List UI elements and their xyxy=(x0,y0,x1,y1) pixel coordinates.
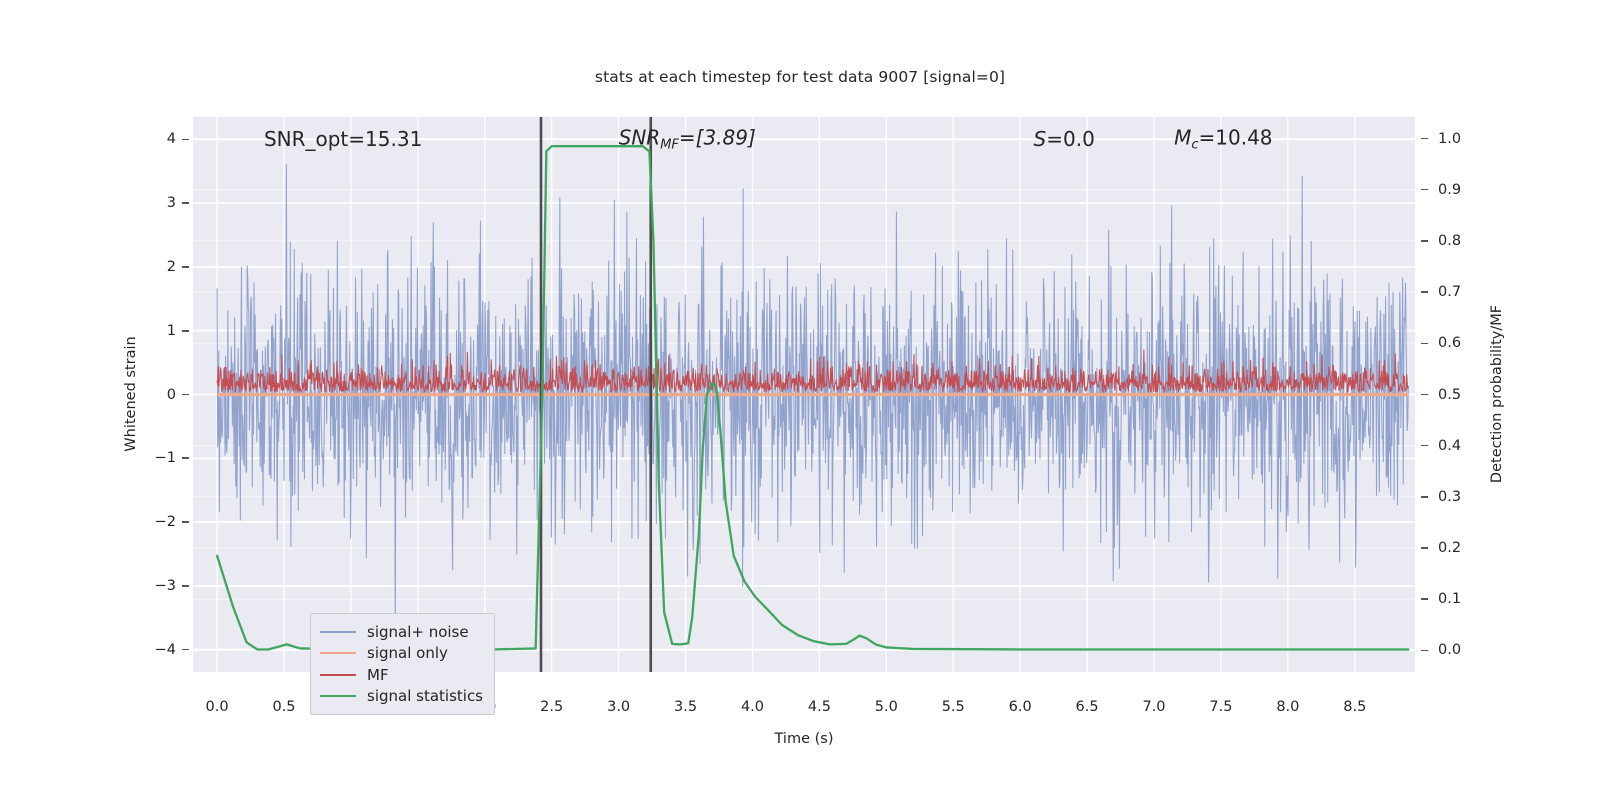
tick-mark xyxy=(1421,394,1428,396)
x-tick-10: 5.0 xyxy=(875,699,898,715)
tick-mark xyxy=(1421,547,1428,549)
tick-mark xyxy=(182,394,189,396)
y-tick-left-4: 0 xyxy=(150,387,176,403)
tick-mark xyxy=(1421,650,1428,652)
legend-label: MF xyxy=(367,666,389,684)
legend-swatch-icon xyxy=(320,652,356,654)
tick-mark xyxy=(1421,445,1428,447)
tick-mark xyxy=(1421,189,1428,191)
y-tick-left-8: 4 xyxy=(150,131,176,147)
y-tick-left-2: −2 xyxy=(150,514,176,530)
x-axis-label: Time (s) xyxy=(775,731,834,747)
tick-mark xyxy=(1421,598,1428,600)
legend-item-2[interactable]: MF xyxy=(320,664,483,686)
plot-area xyxy=(193,117,1415,672)
tick-mark xyxy=(1421,291,1428,293)
y-tick-left-5: 1 xyxy=(150,323,176,339)
tick-mark xyxy=(182,585,189,587)
y-tick-right-6: 0.6 xyxy=(1438,335,1478,351)
x-tick-16: 8.0 xyxy=(1276,699,1299,715)
annotation-snr-mf: SNRMF=[3.89] xyxy=(619,126,756,153)
x-tick-11: 5.5 xyxy=(942,699,965,715)
x-tick-14: 7.0 xyxy=(1142,699,1165,715)
y-tick-right-10: 1.0 xyxy=(1438,131,1478,147)
y-tick-right-2: 0.2 xyxy=(1438,540,1478,556)
legend-swatch-icon xyxy=(320,674,356,676)
y-tick-right-9: 0.9 xyxy=(1438,182,1478,198)
legend-swatch-icon xyxy=(320,631,356,633)
tick-mark xyxy=(182,202,189,204)
tick-mark xyxy=(182,266,189,268)
series-signal-plus-noise xyxy=(217,164,1408,650)
x-tick-6: 3.0 xyxy=(607,699,630,715)
y-tick-left-1: −3 xyxy=(150,578,176,594)
y-axis-label-right: Detection probability/MF xyxy=(1489,305,1505,483)
annotation-mc-value: Mc=10.48 xyxy=(1174,126,1272,153)
x-tick-7: 3.5 xyxy=(674,699,697,715)
legend-item-1[interactable]: signal only xyxy=(320,643,483,665)
noise-trace xyxy=(217,164,1408,650)
plot-canvas xyxy=(193,117,1415,672)
annotation-snr-opt: SNR_opt=15.31 xyxy=(264,127,422,151)
y-tick-right-0: 0.0 xyxy=(1438,642,1478,658)
tick-mark xyxy=(1421,138,1428,140)
y-tick-right-8: 0.8 xyxy=(1438,233,1478,249)
tick-mark xyxy=(182,649,189,651)
x-tick-15: 7.5 xyxy=(1209,699,1232,715)
x-tick-17: 8.5 xyxy=(1343,699,1366,715)
x-tick-8: 4.0 xyxy=(741,699,764,715)
tick-mark xyxy=(182,457,189,459)
legend-item-0[interactable]: signal+ noise xyxy=(320,621,483,643)
x-tick-5: 2.5 xyxy=(540,699,563,715)
y-tick-right-1: 0.1 xyxy=(1438,591,1478,607)
y-tick-right-5: 0.5 xyxy=(1438,387,1478,403)
tick-mark xyxy=(182,139,189,141)
legend-label: signal only xyxy=(367,644,448,662)
y-tick-right-3: 0.3 xyxy=(1438,489,1478,505)
y-tick-right-4: 0.4 xyxy=(1438,438,1478,454)
page-title: stats at each timestep for test data 900… xyxy=(0,68,1600,86)
y-tick-left-7: 3 xyxy=(150,195,176,211)
legend-label: signal+ noise xyxy=(367,623,469,641)
tick-mark xyxy=(182,521,189,523)
tick-mark xyxy=(182,330,189,332)
legend: signal+ noisesignal onlyMFsignal statist… xyxy=(310,613,495,715)
legend-label: signal statistics xyxy=(367,687,483,705)
tick-mark xyxy=(1421,343,1428,345)
x-tick-9: 4.5 xyxy=(808,699,831,715)
x-tick-12: 6.0 xyxy=(1009,699,1032,715)
y-tick-left-6: 2 xyxy=(150,259,176,275)
x-tick-1: 0.5 xyxy=(272,699,295,715)
matplotlib-figure: stats at each timestep for test data 900… xyxy=(0,0,1600,800)
y-axis-label-left: Whitened strain xyxy=(123,336,139,451)
annotation-s-value: S=0.0 xyxy=(1034,127,1095,151)
y-tick-left-3: −1 xyxy=(150,450,176,466)
legend-swatch-icon xyxy=(320,695,356,697)
legend-item-3[interactable]: signal statistics xyxy=(320,686,483,708)
y-tick-left-0: −4 xyxy=(150,642,176,658)
y-tick-right-7: 0.7 xyxy=(1438,284,1478,300)
x-tick-13: 6.5 xyxy=(1076,699,1099,715)
x-tick-0: 0.0 xyxy=(206,699,229,715)
tick-mark xyxy=(1421,240,1428,242)
tick-mark xyxy=(1421,496,1428,498)
